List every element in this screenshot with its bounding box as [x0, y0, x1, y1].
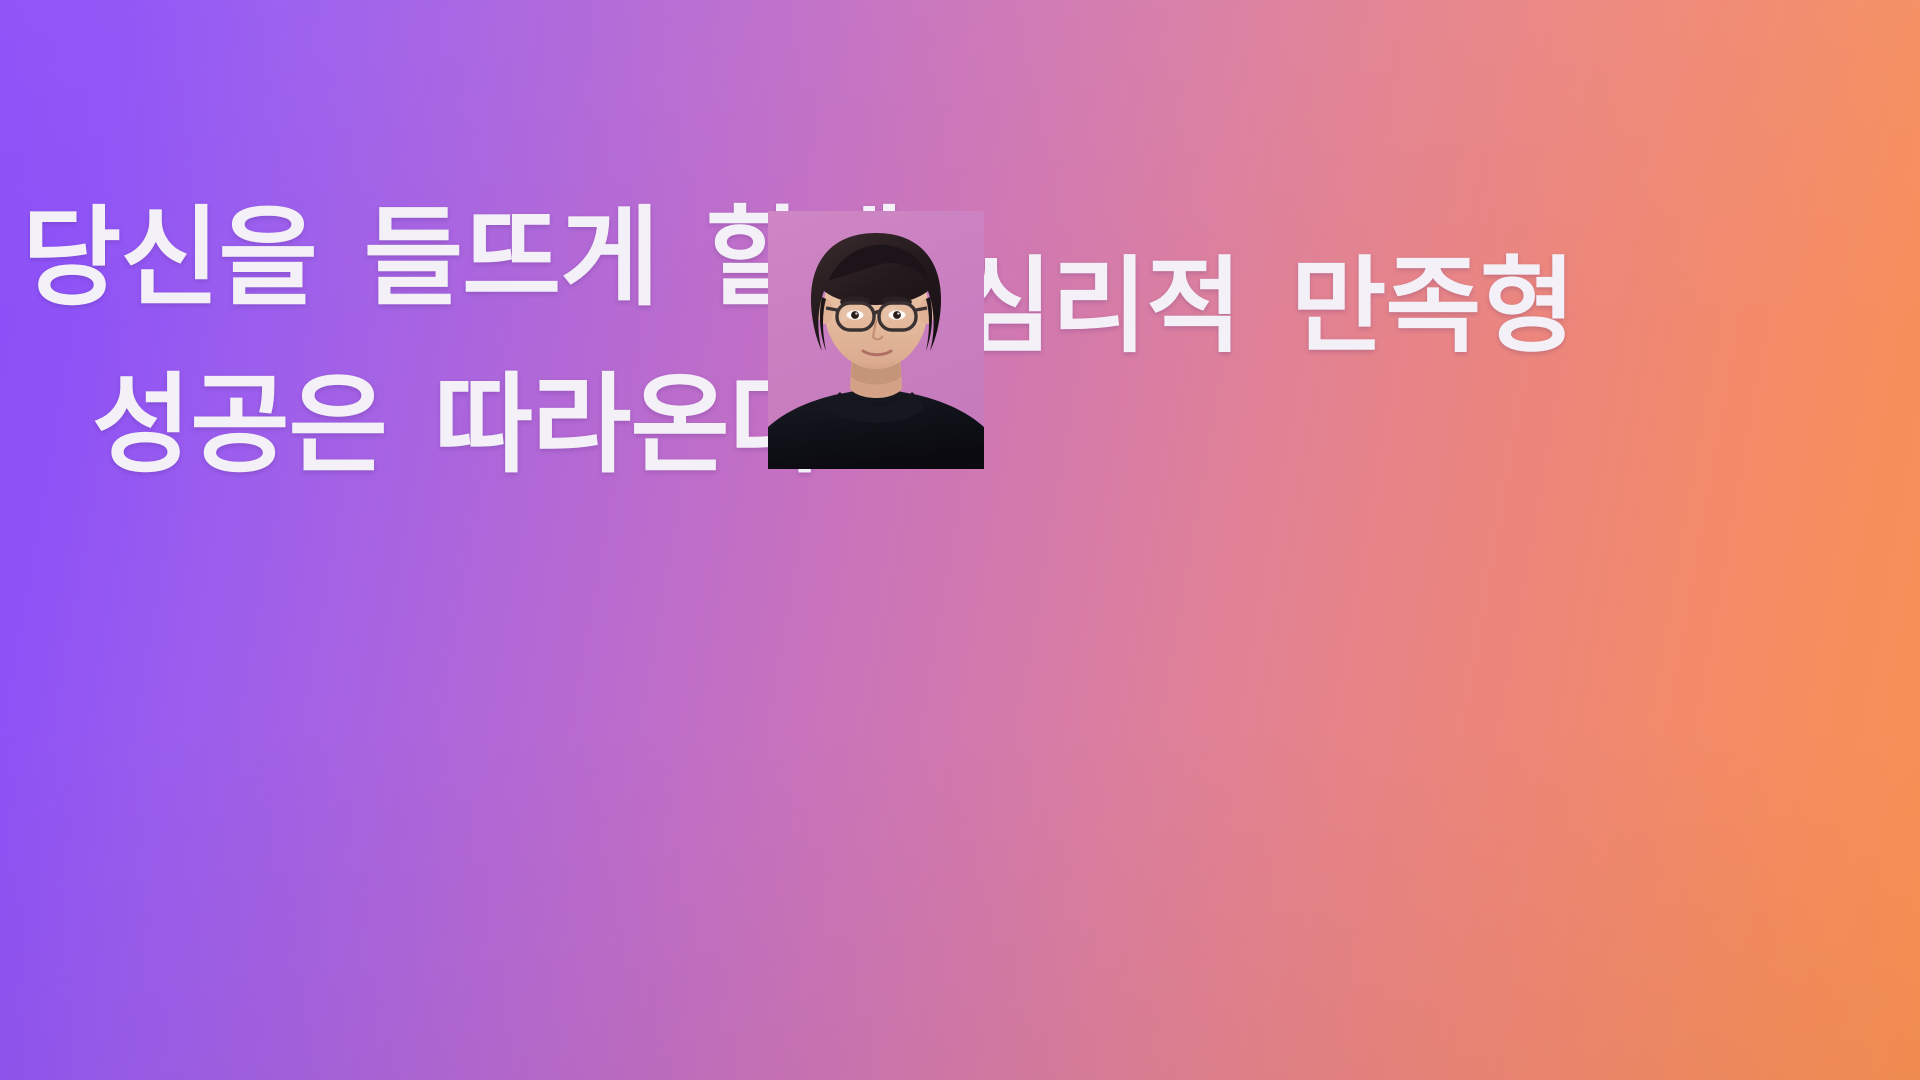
headline-line-2: 성공은 따라온다 — [92, 371, 827, 479]
slide-canvas: 당신을 들뜨게 할때 성공은 따라온다 심리적 만족형 — [0, 0, 1920, 1080]
portrait-photo: 안경을 쓴 짧은 머리 여성의 증명사진 — [768, 211, 984, 469]
gradient-background — [0, 0, 1920, 1080]
portrait-illustration — [768, 211, 984, 469]
tagline-text: 심리적 만족형 — [957, 255, 1575, 359]
